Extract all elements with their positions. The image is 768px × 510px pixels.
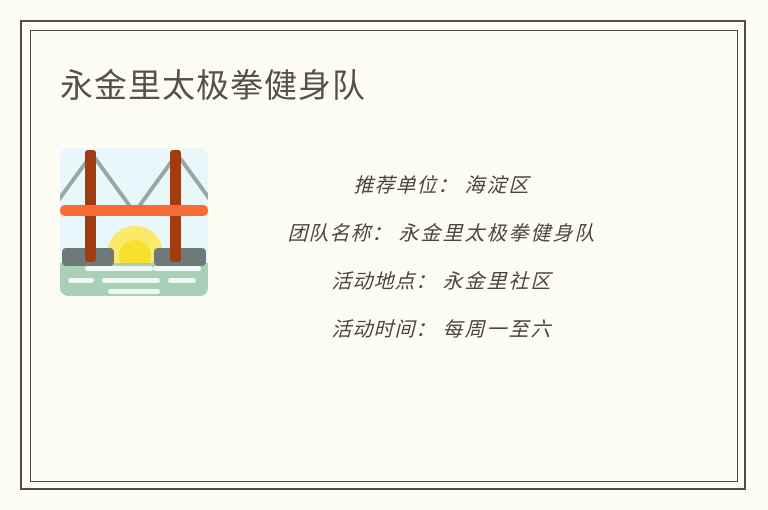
info-block: 推荐单位：海淀区 团队名称：永金里太极拳健身队 活动地点：永金里社区 活动时间：… (222, 162, 662, 354)
info-value-recommending-unit: 海淀区 (465, 175, 531, 197)
water-wave-icon (85, 266, 153, 271)
poster-page: 永金里太极拳健身队 推荐单位：海淀区 (0, 0, 768, 510)
info-label-activity-time: 活动时间： (332, 319, 437, 341)
info-value-activity-location: 永金里社区 (443, 271, 553, 293)
poster-content: 永金里太极拳健身队 推荐单位：海淀区 (0, 0, 768, 510)
bridge-sunset-illustration (60, 148, 208, 296)
page-title: 永金里太极拳健身队 (60, 64, 366, 108)
info-label-team-name: 团队名称： (288, 223, 393, 245)
water-wave-icon (102, 278, 160, 283)
info-label-recommending-unit: 推荐单位： (354, 175, 459, 197)
info-value-activity-time: 每周一至六 (443, 319, 553, 341)
info-row-activity-time: 活动时间：每周一至六 (222, 306, 662, 354)
info-row-recommending-unit: 推荐单位：海淀区 (222, 162, 662, 210)
water-wave-icon (108, 289, 160, 294)
info-row-activity-location: 活动地点：永金里社区 (222, 258, 662, 306)
water-wave-icon (168, 278, 196, 283)
info-label-activity-location: 活动地点： (332, 271, 437, 293)
water-wave-icon (68, 278, 94, 283)
bridge-deck-icon (60, 205, 208, 216)
info-row-team-name: 团队名称：永金里太极拳健身队 (222, 210, 662, 258)
water-wave-icon (153, 266, 201, 271)
info-value-team-name: 永金里太极拳健身队 (399, 223, 597, 245)
